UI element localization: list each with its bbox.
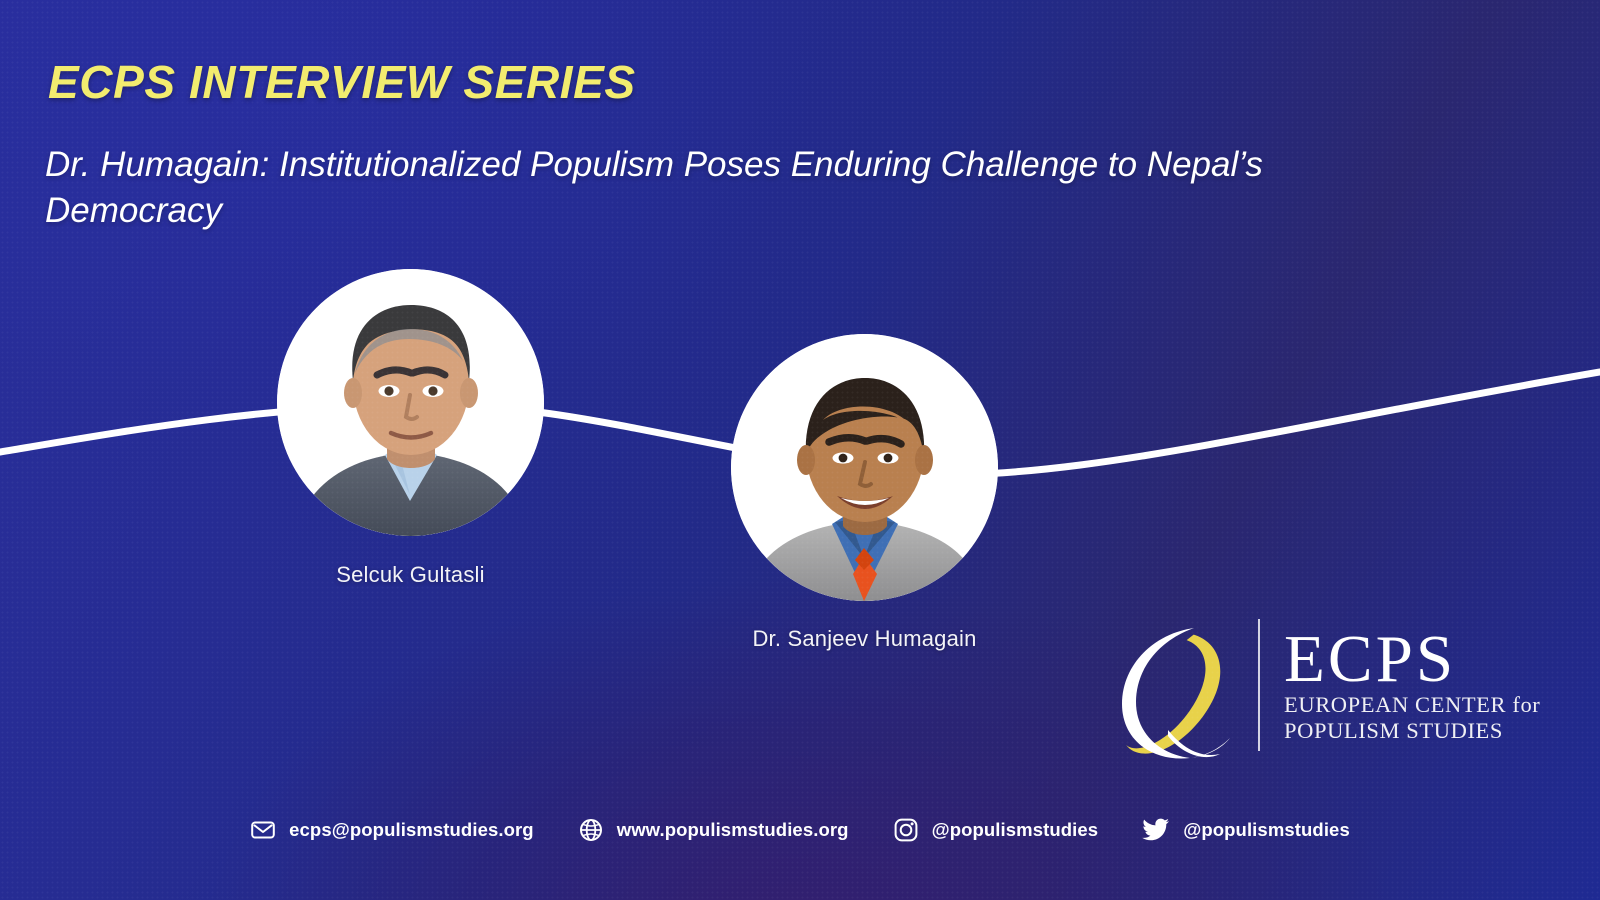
avatar (731, 334, 998, 601)
ecps-crescent-icon (1098, 604, 1248, 766)
avatar-caption: Selcuk Gultasli (277, 562, 544, 588)
logo-subtitle-line-1: EUROPEAN CENTER for (1284, 692, 1540, 718)
contact-website[interactable]: www.populismstudies.org (578, 817, 849, 843)
contact-email[interactable]: ecps@populismstudies.org (250, 817, 534, 843)
twitter-icon (1142, 817, 1170, 843)
logo-divider (1258, 619, 1260, 751)
email-icon (250, 817, 276, 843)
footer-contact-bar: ecps@populismstudies.org www.populismstu… (0, 817, 1600, 843)
instagram-icon (893, 817, 919, 843)
logo-subtitle-line-2: POPULISM STUDIES (1284, 718, 1540, 744)
avatar-caption: Dr. Sanjeev Humagain (731, 626, 998, 652)
contact-website-label: www.populismstudies.org (617, 819, 849, 841)
contact-twitter-label: @populismstudies (1183, 819, 1350, 841)
avatar (277, 269, 544, 536)
contact-instagram-label: @populismstudies (932, 819, 1099, 841)
logo-acronym: ECPS (1284, 627, 1540, 693)
page-title: Dr. Humagain: Institutionalized Populism… (45, 142, 1425, 233)
ecps-logo: ECPS EUROPEAN CENTER for POPULISM STUDIE… (1098, 604, 1528, 766)
contact-email-label: ecps@populismstudies.org (289, 819, 534, 841)
contact-instagram[interactable]: @populismstudies (893, 817, 1099, 843)
series-kicker: ECPS INTERVIEW SERIES (48, 55, 636, 109)
contact-twitter[interactable]: @populismstudies (1142, 817, 1350, 843)
ecps-interview-banner: ECPS INTERVIEW SERIES Dr. Humagain: Inst… (0, 0, 1600, 900)
globe-icon (578, 817, 604, 843)
